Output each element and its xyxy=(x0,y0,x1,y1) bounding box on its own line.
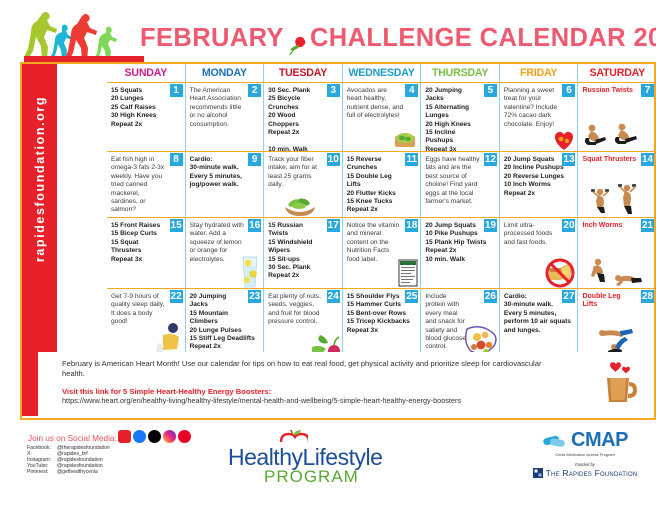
day-number-badge: 19 xyxy=(484,219,497,232)
coffee-mug-hearts-icon xyxy=(602,360,640,406)
day-number-badge: 26 xyxy=(484,290,497,303)
day-number-badge: 20 xyxy=(562,219,575,232)
day-number-badge: 8 xyxy=(170,153,183,166)
calendar-day-19[interactable]: 19 20 Jump Squats 10 Pike Pushups 15 Pla… xyxy=(421,218,500,288)
title-month: FEBRUARY xyxy=(140,24,284,52)
calendar-day-25[interactable]: 25 15 Shoulder Flys 15 Hammer Curls 15 B… xyxy=(343,289,422,361)
calendar-day-20[interactable]: 20 Limit ultra-processed foods and fast … xyxy=(500,218,579,288)
day-number-badge: 15 xyxy=(170,219,183,232)
day-header-monday: MONDAY xyxy=(186,64,265,82)
day-content: Get 7-9 hours of quality sleep daily. It… xyxy=(111,293,168,327)
day-number-badge: 14 xyxy=(641,153,654,166)
calendar-day-1[interactable]: 1 15 Squats 20 Lunges 25 Calf Raises 30 … xyxy=(107,83,186,151)
calendar-day-18[interactable]: 18 Notice the vitamin and mineral conten… xyxy=(343,218,422,288)
calendar-week-row: 22 Get 7-9 hours of quality sleep daily.… xyxy=(107,289,656,361)
x-twitter-icon[interactable] xyxy=(148,430,161,443)
day-content: Include protein with every meal and snac… xyxy=(425,293,467,352)
day-content: Eggs have healthy fats and are the best … xyxy=(425,156,482,206)
cmap-name: CMAP xyxy=(571,429,628,452)
social-handles-list: Facebook:@therapidesfoundation X:@rapide… xyxy=(27,446,110,476)
day-content: Limit ultra-processed foods and fast foo… xyxy=(504,222,561,247)
day-content: Notice the vitamin and mineral content o… xyxy=(347,222,404,264)
message-link-url[interactable]: https://www.heart.org/en/healthy-living/… xyxy=(62,396,644,405)
day-content: The American Heart Association recommend… xyxy=(190,87,247,129)
russian-twists-figures-icon xyxy=(582,120,644,150)
day-number-badge: 27 xyxy=(562,290,575,303)
calendar-day-14[interactable]: 14 Squat Thrusters xyxy=(578,152,656,217)
calendar-day-23[interactable]: 23 20 Jumping Jacks 15 Mountain Climbers… xyxy=(186,289,265,361)
day-number-badge: 5 xyxy=(484,84,497,97)
page-footer: Join us on Social Media: Facebook:@thera… xyxy=(0,424,656,506)
page-header: FEBRUARYCHALLENGE CALENDAR 2026 xyxy=(0,0,656,62)
day-number-badge: 22 xyxy=(170,290,183,303)
calendar-day-17[interactable]: 17 15 Russian Twists 15 Windshield Wiper… xyxy=(264,218,343,288)
message-box: February is American Heart Month! Use ou… xyxy=(20,352,656,420)
calendar-week-row: 1 15 Squats 20 Lunges 25 Calf Raises 30 … xyxy=(107,83,656,152)
day-number-badge: 13 xyxy=(562,153,575,166)
day-number-badge: 17 xyxy=(327,219,340,232)
day-number-badge: 7 xyxy=(641,84,654,97)
calendar-day-7[interactable]: 7 Russian Twists xyxy=(578,83,656,151)
calendar-day-8[interactable]: 8 Eat fish high in omega-3 fats 2-3x wee… xyxy=(107,152,186,217)
calendar-day-16[interactable]: 16 Stay hydrated with water. Add a squee… xyxy=(186,218,265,288)
day-number-badge: 12 xyxy=(484,153,497,166)
day-content: 15 Squats 20 Lunges 25 Calf Raises 30 Hi… xyxy=(111,87,168,129)
day-number-badge: 11 xyxy=(405,153,418,166)
handle-platform: Pinterest: xyxy=(27,470,57,476)
calendar-day-11[interactable]: 11 15 Reverse Crunches 15 Double Leg Lif… xyxy=(343,152,422,217)
social-icons-group xyxy=(118,430,191,443)
calendar-day-2[interactable]: 2 The American Heart Association recomme… xyxy=(186,83,265,151)
day-number-badge: 21 xyxy=(641,219,654,232)
day-number-badge: 28 xyxy=(641,290,654,303)
message-link-label: Visit this link for 5 Simple Heart-Healt… xyxy=(62,387,644,396)
calendar-day-6[interactable]: 6 Planning a sweet treat for your valent… xyxy=(500,83,579,151)
avocado-toast-icon xyxy=(393,129,417,149)
calendar-day-27[interactable]: 27 Cardio: 30-minute walk. Every 5 minut… xyxy=(500,289,579,361)
day-header-row: SUNDAY MONDAY TUESDAY WEDNESDAY THURSDAY… xyxy=(107,64,656,83)
day-content: Cardio: 30-minute walk. Every 5 minutes,… xyxy=(190,156,247,190)
calendar-day-28[interactable]: 28 Double Leg Lifts xyxy=(578,289,656,361)
social-media-title: Join us on Social Media: xyxy=(28,434,117,443)
day-number-badge: 6 xyxy=(562,84,575,97)
day-number-badge: 23 xyxy=(248,290,261,303)
day-content: 15 Reverse Crunches 15 Double Leg Lifts … xyxy=(347,156,404,215)
calendar-day-10[interactable]: 10 Track your fiber intake, aim for at l… xyxy=(264,152,343,217)
rose-icon xyxy=(284,28,310,57)
calendar-week-row: 8 Eat fish high in omega-3 fats 2-3x wee… xyxy=(107,152,656,218)
cmap-logo-block: CMAP Cenla Medication Access Program Fun… xyxy=(520,429,650,478)
handle-row: Pinterest:@gethealthycenla xyxy=(27,470,110,476)
day-content: 15 Russian Twists 15 Windshield Wipers 1… xyxy=(268,222,325,281)
no-fast-food-icon xyxy=(543,258,577,288)
message-intro: February is American Heart Month! Use ou… xyxy=(62,359,542,380)
cmap-subtitle: Cenla Medication Access Program xyxy=(520,452,650,457)
day-header-thursday: THURSDAY xyxy=(421,64,500,82)
day-content: Track your fiber intake, aim for at leas… xyxy=(268,156,325,190)
page-title: FEBRUARYCHALLENGE CALENDAR 2026 xyxy=(140,24,650,57)
calendar-day-12[interactable]: 12 Eggs have healthy fats and are the be… xyxy=(421,152,500,217)
day-header-wednesday: WEDNESDAY xyxy=(343,64,422,82)
message-red-accent xyxy=(22,352,38,416)
edamame-bowl-icon xyxy=(282,195,318,217)
calendar-day-22[interactable]: 22 Get 7-9 hours of quality sleep daily.… xyxy=(107,289,186,361)
day-header-friday: FRIDAY xyxy=(500,64,579,82)
calendar-day-21[interactable]: 21 Inch Worms xyxy=(578,218,656,288)
handle-value: @gethealthycenla xyxy=(57,469,98,475)
day-header-tuesday: TUESDAY xyxy=(264,64,343,82)
title-rest: CHALLENGE CALENDAR 2026 xyxy=(310,24,656,52)
day-number-badge: 16 xyxy=(248,219,261,232)
calendar-weeks: 1 15 Squats 20 Lunges 25 Calf Raises 30 … xyxy=(107,83,656,361)
sidebar-website-url: rapidesfoundation.org xyxy=(33,53,47,305)
calendar-day-24[interactable]: 24 Eat plenty of nuts, seeds, veggies, a… xyxy=(264,289,343,361)
day-content: Eat plenty of nuts, seeds, veggies, and … xyxy=(268,293,325,327)
day-content: 30 Sec. Plank 25 Bicycle Crunches 20 Woo… xyxy=(268,87,325,151)
day-number-badge: 10 xyxy=(327,153,340,166)
day-number-badge: 25 xyxy=(405,290,418,303)
day-content: Avocados are heart healthy, nutrient den… xyxy=(347,87,404,121)
youtube-icon[interactable] xyxy=(118,430,131,443)
day-content: 20 Jumping Jacks 15 Alternating Lunges 2… xyxy=(425,87,482,151)
calendar-day-5[interactable]: 5 20 Jumping Jacks 15 Alternating Lunges… xyxy=(421,83,500,151)
pills-icon xyxy=(542,433,568,449)
calendar-day-9[interactable]: 9 Cardio: 30-minute walk. Every 5 minute… xyxy=(186,152,265,217)
calendar-week-row: 15 15 Front Raises 15 Bicep Curls 15 Squ… xyxy=(107,218,656,289)
day-header-sunday: SUNDAY xyxy=(107,64,186,82)
day-number-badge: 9 xyxy=(248,153,261,166)
healthy-lifestyle-logo: HealthyLifestyle PROGRAM xyxy=(228,444,382,487)
day-number-badge: 1 xyxy=(170,84,183,97)
day-number-badge: 2 xyxy=(248,84,261,97)
calendar-day-15[interactable]: 15 15 Front Raises 15 Bicep Curls 15 Squ… xyxy=(107,218,186,288)
calendar-day-26[interactable]: 26 Include protein with every meal and s… xyxy=(421,289,500,361)
day-number-badge: 4 xyxy=(405,84,418,97)
day-number-badge: 18 xyxy=(405,219,418,232)
instagram-icon[interactable] xyxy=(163,430,176,443)
day-number-badge: 24 xyxy=(327,290,340,303)
day-content: Stay hydrated with water. Add a squeeze … xyxy=(190,222,247,264)
day-content: 15 Front Raises 15 Bicep Curls 15 Squat … xyxy=(111,222,168,264)
day-number-badge: 3 xyxy=(327,84,340,97)
calendar-day-4[interactable]: 4 Avocados are heart healthy, nutrient d… xyxy=(343,83,422,151)
day-header-saturday: SATURDAY xyxy=(578,64,656,82)
pinterest-icon[interactable] xyxy=(178,430,191,443)
calendar-day-3[interactable]: 3 30 Sec. Plank 25 Bicycle Crunches 20 W… xyxy=(264,83,343,151)
heart-chocolate-icon xyxy=(551,129,577,151)
cmap-foundation-name: The Rapides Foundation xyxy=(546,468,638,478)
day-content: Eat fish high in omega-3 fats 2-3x weekl… xyxy=(111,156,168,215)
apple-icon xyxy=(278,430,308,452)
facebook-icon[interactable] xyxy=(133,430,146,443)
day-content: Planning a sweet treat for your valentin… xyxy=(504,87,561,129)
inch-worm-figures-icon xyxy=(584,254,646,288)
squat-thruster-figures-icon xyxy=(586,183,644,217)
calendar-day-13[interactable]: 13 20 Jump Squats 20 Incline Pushups 20 … xyxy=(500,152,579,217)
foundation-square-icon xyxy=(533,468,543,478)
